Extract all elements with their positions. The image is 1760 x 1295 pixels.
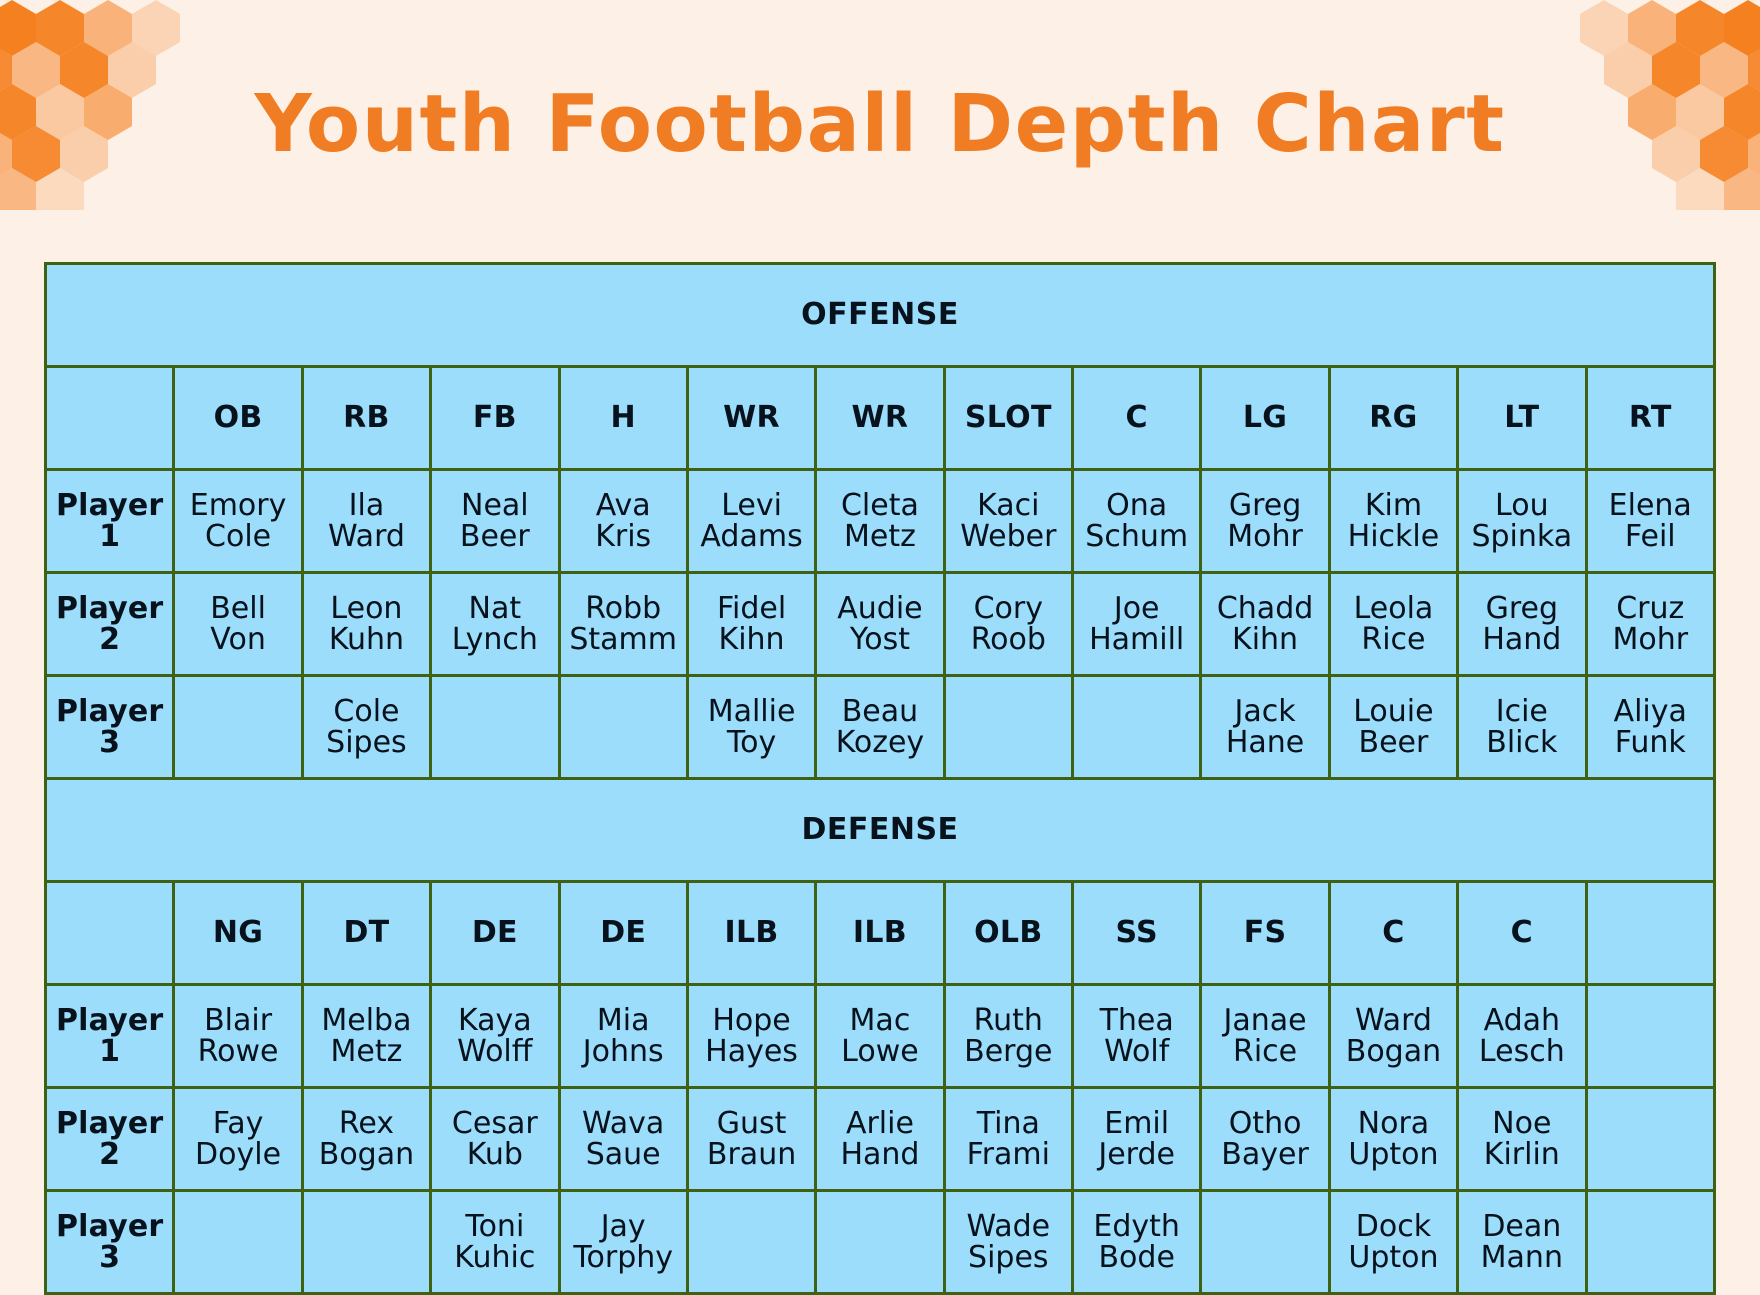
player-last-name: Mohr [1589, 624, 1713, 655]
player-last-name: Torphy [562, 1242, 685, 1273]
player-row: Player 2BellVonLeonKuhnNatLynchRobbStamm… [46, 573, 1715, 676]
player-first-name: Dean [1460, 1211, 1583, 1242]
player-cell[interactable] [1201, 1191, 1329, 1294]
page-header: Youth Football Depth Chart [0, 0, 1760, 248]
player-first-name: Mac [818, 1005, 941, 1036]
player-cell[interactable] [1586, 1088, 1715, 1191]
player-first-name: Ava [562, 490, 685, 521]
player-last-name: Toy [690, 727, 813, 758]
player-last-name: Sipes [305, 727, 428, 758]
player-cell[interactable]: BellVon [174, 573, 302, 676]
player-cell[interactable]: AdahLesch [1458, 985, 1586, 1088]
player-last-name: Hand [818, 1139, 941, 1170]
player-cell[interactable]: KayaWolff [431, 985, 559, 1088]
player-first-name: Kaya [433, 1005, 556, 1036]
player-last-name: Kozey [818, 727, 941, 758]
player-first-name: Greg [1460, 593, 1583, 624]
player-cell[interactable] [174, 676, 302, 779]
player-row: Player 1EmoryColeIlaWardNealBeerAvaKrisL… [46, 470, 1715, 573]
player-last-name: Kuhic [433, 1242, 556, 1273]
player-cell[interactable]: CruzMohr [1586, 573, 1715, 676]
position-header-row: NGDTDEDEILBILBOLBSSFSCC [46, 882, 1715, 985]
player-cell[interactable]: HopeHayes [687, 985, 815, 1088]
position-header-rg-9: RG [1329, 367, 1457, 470]
position-header-ss-7: SS [1073, 882, 1201, 985]
position-header-ilb-5: ILB [816, 882, 944, 985]
row-label-player-3: Player 3 [46, 676, 174, 779]
player-last-name: Schum [1075, 521, 1198, 552]
row-label-player-2: Player 2 [46, 1088, 174, 1191]
player-cell[interactable] [302, 1191, 430, 1294]
player-last-name: Lesch [1460, 1036, 1583, 1067]
position-header-rb-1: RB [302, 367, 430, 470]
player-cell[interactable]: GustBraun [687, 1088, 815, 1191]
player-first-name: Emil [1075, 1108, 1198, 1139]
player-first-name: Thea [1075, 1005, 1198, 1036]
player-cell[interactable]: CoryRoob [944, 573, 1072, 676]
position-header-lg-8: LG [1201, 367, 1329, 470]
position-header-slot-6: SLOT [944, 367, 1072, 470]
player-last-name: Feil [1589, 521, 1713, 552]
player-first-name: Cory [947, 593, 1070, 624]
player-cell[interactable]: MacLowe [816, 985, 944, 1088]
player-cell[interactable]: LeviAdams [687, 470, 815, 573]
player-last-name: Metz [305, 1036, 428, 1067]
player-last-name: Bayer [1203, 1139, 1326, 1170]
player-first-name: Beau [818, 696, 941, 727]
player-cell[interactable]: EmoryCole [174, 470, 302, 573]
player-last-name: Mohr [1203, 521, 1326, 552]
player-first-name: Nat [433, 593, 556, 624]
player-last-name: Metz [818, 521, 941, 552]
player-cell[interactable]: GregHand [1458, 573, 1586, 676]
player-last-name: Von [176, 624, 299, 655]
player-cell[interactable]: ArlieHand [816, 1088, 944, 1191]
player-cell[interactable]: AudieYost [816, 573, 944, 676]
player-cell[interactable]: NatLynch [431, 573, 559, 676]
player-cell[interactable]: RuthBerge [944, 985, 1072, 1088]
player-first-name: Ila [305, 490, 428, 521]
player-first-name: Ward [1332, 1005, 1455, 1036]
player-first-name: Melba [305, 1005, 428, 1036]
player-last-name: Braun [690, 1139, 813, 1170]
player-last-name: Roob [947, 624, 1070, 655]
position-header-wr-4: WR [687, 367, 815, 470]
player-first-name: Joe [1075, 593, 1198, 624]
player-first-name: Arlie [818, 1108, 941, 1139]
table-corner-cell [46, 882, 174, 985]
player-last-name: Hayes [690, 1036, 813, 1067]
player-first-name: Nora [1332, 1108, 1455, 1139]
player-last-name: Kub [433, 1139, 556, 1170]
position-header-c-10: C [1458, 882, 1586, 985]
player-first-name: Kaci [947, 490, 1070, 521]
player-cell[interactable]: MallieToy [687, 676, 815, 779]
player-row: Player 3ColeSipesMallieToyBeauKozeyJackH… [46, 676, 1715, 779]
player-first-name: Jack [1203, 696, 1326, 727]
player-row: Player 2FayDoyleRexBoganCesarKubWavaSaue… [46, 1088, 1715, 1191]
player-first-name: Toni [433, 1211, 556, 1242]
row-label-player-1: Player 1 [46, 470, 174, 573]
player-first-name: Cleta [818, 490, 941, 521]
player-first-name: Wade [947, 1211, 1070, 1242]
player-first-name: Emory [176, 490, 299, 521]
player-first-name: Icie [1460, 696, 1583, 727]
player-first-name: Louie [1332, 696, 1455, 727]
player-cell[interactable]: MiaJohns [559, 985, 687, 1088]
player-cell[interactable]: TinaFrami [944, 1088, 1072, 1191]
player-last-name: Hickle [1332, 521, 1455, 552]
player-first-name: Ruth [947, 1005, 1070, 1036]
position-header-row: OBRBFBHWRWRSLOTCLGRGLTRT [46, 367, 1715, 470]
player-last-name: Hamill [1075, 624, 1198, 655]
player-cell[interactable]: LeolaRice [1329, 573, 1457, 676]
depth-chart-table: OFFENSEOBRBFBHWRWRSLOTCLGRGLTRTPlayer 1E… [44, 262, 1716, 1295]
player-first-name: Mia [562, 1005, 685, 1036]
player-first-name: Wava [562, 1108, 685, 1139]
player-cell[interactable]: WardBogan [1329, 985, 1457, 1088]
player-cell[interactable]: EdythBode [1073, 1191, 1201, 1294]
player-first-name: Janae [1203, 1005, 1326, 1036]
player-row: Player 3ToniKuhicJayTorphyWadeSipesEdyth… [46, 1191, 1715, 1294]
row-label-player-3: Player 3 [46, 1191, 174, 1294]
player-first-name: Robb [562, 593, 685, 624]
player-first-name: Blair [176, 1005, 299, 1036]
player-last-name: Hane [1203, 727, 1326, 758]
player-last-name: Lynch [433, 624, 556, 655]
player-cell[interactable] [559, 676, 687, 779]
position-header-ob-0: OB [174, 367, 302, 470]
player-cell[interactable]: ChaddKihn [1201, 573, 1329, 676]
player-cell[interactable]: MelbaMetz [302, 985, 430, 1088]
player-first-name: Adah [1460, 1005, 1583, 1036]
player-first-name: Edyth [1075, 1211, 1198, 1242]
section-title-defense: DEFENSE [46, 779, 1715, 882]
position-header-wr-5: WR [816, 367, 944, 470]
player-first-name: Kim [1332, 490, 1455, 521]
player-last-name: Weber [947, 521, 1070, 552]
player-last-name: Lowe [818, 1036, 941, 1067]
player-last-name: Stamm [562, 624, 685, 655]
player-cell[interactable]: RobbStamm [559, 573, 687, 676]
row-label-player-2: Player 2 [46, 573, 174, 676]
player-cell[interactable]: RexBogan [302, 1088, 430, 1191]
player-cell[interactable]: EmilJerde [1073, 1088, 1201, 1191]
player-cell[interactable]: WavaSaue [559, 1088, 687, 1191]
row-label-player-1: Player 1 [46, 985, 174, 1088]
player-cell[interactable]: JayTorphy [559, 1191, 687, 1294]
player-first-name: Lou [1460, 490, 1583, 521]
player-cell[interactable]: OthoBayer [1201, 1088, 1329, 1191]
position-header-blank-11 [1586, 882, 1715, 985]
player-cell[interactable]: KaciWeber [944, 470, 1072, 573]
player-last-name: Johns [562, 1036, 685, 1067]
player-cell[interactable]: LouSpinka [1458, 470, 1586, 573]
player-first-name: Rex [305, 1108, 428, 1139]
position-header-rt-11: RT [1586, 367, 1715, 470]
player-first-name: Cesar [433, 1108, 556, 1139]
player-cell[interactable]: ToniKuhic [431, 1191, 559, 1294]
player-last-name: Rowe [176, 1036, 299, 1067]
player-cell[interactable] [174, 1191, 302, 1294]
position-header-lt-10: LT [1458, 367, 1586, 470]
player-cell[interactable]: AvaKris [559, 470, 687, 573]
player-last-name: Adams [690, 521, 813, 552]
position-header-ng-0: NG [174, 882, 302, 985]
position-header-fs-8: FS [1201, 882, 1329, 985]
player-last-name: Cole [176, 521, 299, 552]
player-first-name: Chadd [1203, 593, 1326, 624]
player-cell[interactable]: TheaWolf [1073, 985, 1201, 1088]
position-header-c-7: C [1073, 367, 1201, 470]
section-header-row: DEFENSE [46, 779, 1715, 882]
player-last-name: Jerde [1075, 1139, 1198, 1170]
player-cell[interactable] [1073, 676, 1201, 779]
player-cell[interactable]: CletaMetz [816, 470, 944, 573]
player-last-name: Beer [433, 521, 556, 552]
player-last-name: Upton [1332, 1139, 1455, 1170]
player-cell[interactable]: BeauKozey [816, 676, 944, 779]
player-first-name: Ona [1075, 490, 1198, 521]
player-last-name: Rice [1203, 1036, 1326, 1067]
player-last-name: Bogan [305, 1139, 428, 1170]
player-cell[interactable]: DeanMann [1458, 1191, 1586, 1294]
position-header-c-9: C [1329, 882, 1457, 985]
position-header-de-3: DE [559, 882, 687, 985]
player-first-name: Aliya [1589, 696, 1713, 727]
player-cell[interactable]: JoeHamill [1073, 573, 1201, 676]
section-title-offense: OFFENSE [46, 264, 1715, 367]
position-header-ilb-4: ILB [687, 882, 815, 985]
player-cell[interactable]: IcieBlick [1458, 676, 1586, 779]
player-cell[interactable]: NoeKirlin [1458, 1088, 1586, 1191]
player-cell[interactable]: IlaWard [302, 470, 430, 573]
player-cell[interactable]: LouieBeer [1329, 676, 1457, 779]
player-last-name: Kris [562, 521, 685, 552]
player-first-name: Gust [690, 1108, 813, 1139]
player-first-name: Cole [305, 696, 428, 727]
player-last-name: Spinka [1460, 521, 1583, 552]
player-first-name: Tina [947, 1108, 1070, 1139]
player-last-name: Blick [1460, 727, 1583, 758]
position-header-h-3: H [559, 367, 687, 470]
player-cell[interactable]: CesarKub [431, 1088, 559, 1191]
player-first-name: Noe [1460, 1108, 1583, 1139]
player-last-name: Yost [818, 624, 941, 655]
player-row: Player 1BlairRoweMelbaMetzKayaWolffMiaJo… [46, 985, 1715, 1088]
position-header-de-2: DE [431, 882, 559, 985]
player-cell[interactable]: BlairRowe [174, 985, 302, 1088]
section-header-row: OFFENSE [46, 264, 1715, 367]
player-cell[interactable]: ElenaFeil [1586, 470, 1715, 573]
player-cell[interactable]: NealBeer [431, 470, 559, 573]
position-header-olb-6: OLB [944, 882, 1072, 985]
player-first-name: Bell [176, 593, 299, 624]
table-corner-cell [46, 367, 174, 470]
player-cell[interactable] [431, 676, 559, 779]
player-first-name: Jay [562, 1211, 685, 1242]
player-last-name: Frami [947, 1139, 1070, 1170]
position-header-fb-2: FB [431, 367, 559, 470]
player-first-name: Greg [1203, 490, 1326, 521]
player-last-name: Kihn [690, 624, 813, 655]
player-first-name: Fay [176, 1108, 299, 1139]
player-last-name: Kihn [1203, 624, 1326, 655]
player-first-name: Mallie [690, 696, 813, 727]
player-cell[interactable] [1586, 1191, 1715, 1294]
player-cell[interactable]: JanaeRice [1201, 985, 1329, 1088]
player-cell[interactable]: WadeSipes [944, 1191, 1072, 1294]
player-cell[interactable]: GregMohr [1201, 470, 1329, 573]
player-cell[interactable]: OnaSchum [1073, 470, 1201, 573]
player-cell[interactable] [944, 676, 1072, 779]
player-last-name: Funk [1589, 727, 1713, 758]
player-cell[interactable]: NoraUpton [1329, 1088, 1457, 1191]
player-cell[interactable]: AliyaFunk [1586, 676, 1715, 779]
player-first-name: Cruz [1589, 593, 1713, 624]
player-last-name: Rice [1332, 624, 1455, 655]
player-cell[interactable]: FayDoyle [174, 1088, 302, 1191]
player-first-name: Dock [1332, 1211, 1455, 1242]
player-cell[interactable]: JackHane [1201, 676, 1329, 779]
player-first-name: Elena [1589, 490, 1713, 521]
player-last-name: Berge [947, 1036, 1070, 1067]
player-cell[interactable]: FidelKihn [687, 573, 815, 676]
depth-chart-container: OFFENSEOBRBFBHWRWRSLOTCLGRGLTRTPlayer 1E… [44, 262, 1716, 1295]
player-last-name: Upton [1332, 1242, 1455, 1273]
player-cell[interactable] [816, 1191, 944, 1294]
player-last-name: Bogan [1332, 1036, 1455, 1067]
player-last-name: Bode [1075, 1242, 1198, 1273]
player-first-name: Otho [1203, 1108, 1326, 1139]
player-last-name: Mann [1460, 1242, 1583, 1273]
player-last-name: Kuhn [305, 624, 428, 655]
player-last-name: Sipes [947, 1242, 1070, 1273]
position-header-dt-1: DT [302, 882, 430, 985]
player-last-name: Wolff [433, 1036, 556, 1067]
player-first-name: Hope [690, 1005, 813, 1036]
player-first-name: Leon [305, 593, 428, 624]
page-title: Youth Football Depth Chart [254, 78, 1505, 170]
player-last-name: Beer [1332, 727, 1455, 758]
player-last-name: Ward [305, 521, 428, 552]
player-last-name: Doyle [176, 1139, 299, 1170]
player-first-name: Neal [433, 490, 556, 521]
player-cell[interactable]: LeonKuhn [302, 573, 430, 676]
player-cell[interactable]: ColeSipes [302, 676, 430, 779]
player-cell[interactable]: KimHickle [1329, 470, 1457, 573]
player-last-name: Hand [1460, 624, 1583, 655]
player-cell[interactable] [1586, 985, 1715, 1088]
player-cell[interactable] [687, 1191, 815, 1294]
player-first-name: Leola [1332, 593, 1455, 624]
player-cell[interactable]: DockUpton [1329, 1191, 1457, 1294]
player-first-name: Fidel [690, 593, 813, 624]
player-first-name: Audie [818, 593, 941, 624]
player-last-name: Saue [562, 1139, 685, 1170]
player-first-name: Levi [690, 490, 813, 521]
player-last-name: Wolf [1075, 1036, 1198, 1067]
player-last-name: Kirlin [1460, 1139, 1583, 1170]
